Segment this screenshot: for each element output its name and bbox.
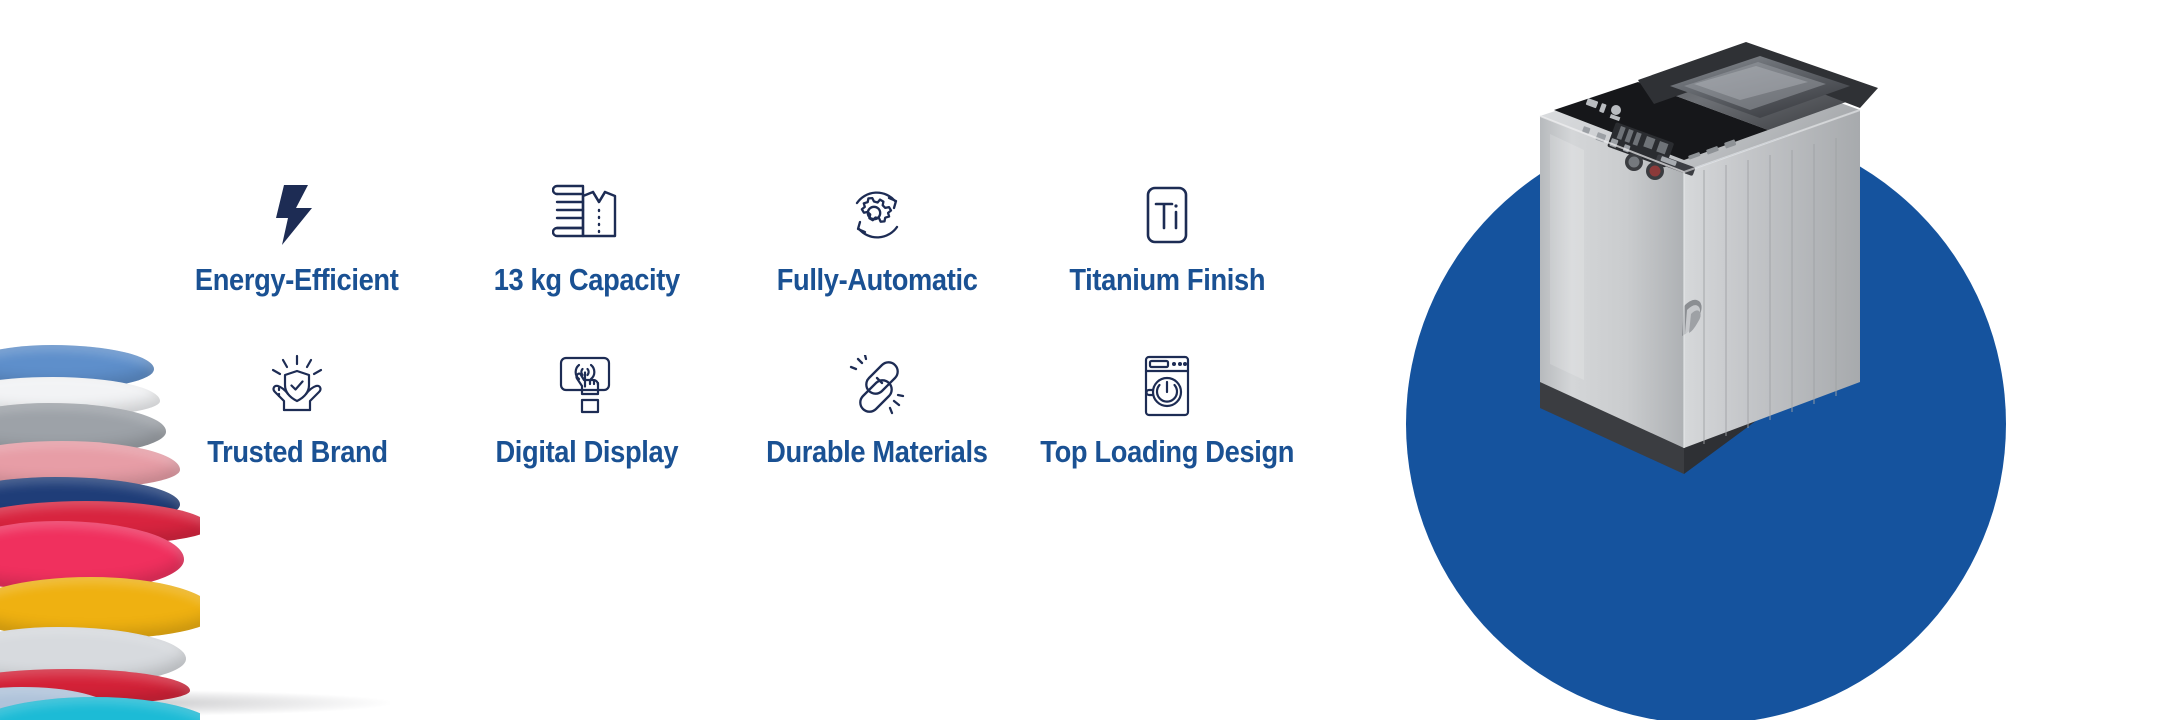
feature-label: Top Loading Design bbox=[1040, 434, 1294, 470]
feature-label: Energy-Efficient bbox=[195, 262, 399, 298]
feature-label: Durable Materials bbox=[766, 434, 987, 470]
feature-top-loading-design[interactable]: Top Loading Design bbox=[1022, 350, 1312, 522]
feature-label: Trusted Brand bbox=[207, 434, 387, 470]
feature-capacity[interactable]: 13 kg Capacity bbox=[442, 178, 732, 350]
feature-fully-automatic[interactable]: Fully-Automatic bbox=[732, 178, 1022, 350]
lightning-bolt-icon bbox=[274, 182, 320, 248]
feature-durable-materials[interactable]: Durable Materials bbox=[732, 350, 1022, 522]
feature-titanium-finish[interactable]: Titanium Finish bbox=[1022, 178, 1312, 350]
washing-machine-product-image bbox=[1488, 4, 1938, 494]
top-load-washing-machine-icon bbox=[1139, 354, 1195, 420]
feature-digital-display[interactable]: Digital Display bbox=[442, 350, 732, 522]
feature-trusted-brand[interactable]: Trusted Brand bbox=[152, 350, 442, 522]
gear-cycle-arrows-icon bbox=[845, 182, 909, 248]
folded-clothes-shirt-icon bbox=[552, 182, 622, 248]
titanium-ti-element-icon bbox=[1140, 182, 1194, 248]
product-feature-banner: Energy-Efficient 13 kg Capacity bbox=[0, 0, 2160, 720]
chain-links-icon bbox=[846, 354, 908, 420]
feature-energy-efficient[interactable]: Energy-Efficient bbox=[152, 178, 442, 350]
feature-label: Digital Display bbox=[496, 434, 679, 470]
feature-label: 13 kg Capacity bbox=[494, 262, 680, 298]
hands-holding-shield-check-icon bbox=[266, 354, 328, 420]
feature-grid: Energy-Efficient 13 kg Capacity bbox=[152, 178, 1312, 522]
product-area bbox=[1380, 0, 2160, 720]
feature-label: Fully-Automatic bbox=[777, 262, 978, 298]
hand-touch-screen-icon bbox=[555, 354, 619, 420]
feature-label: Titanium Finish bbox=[1069, 262, 1265, 298]
